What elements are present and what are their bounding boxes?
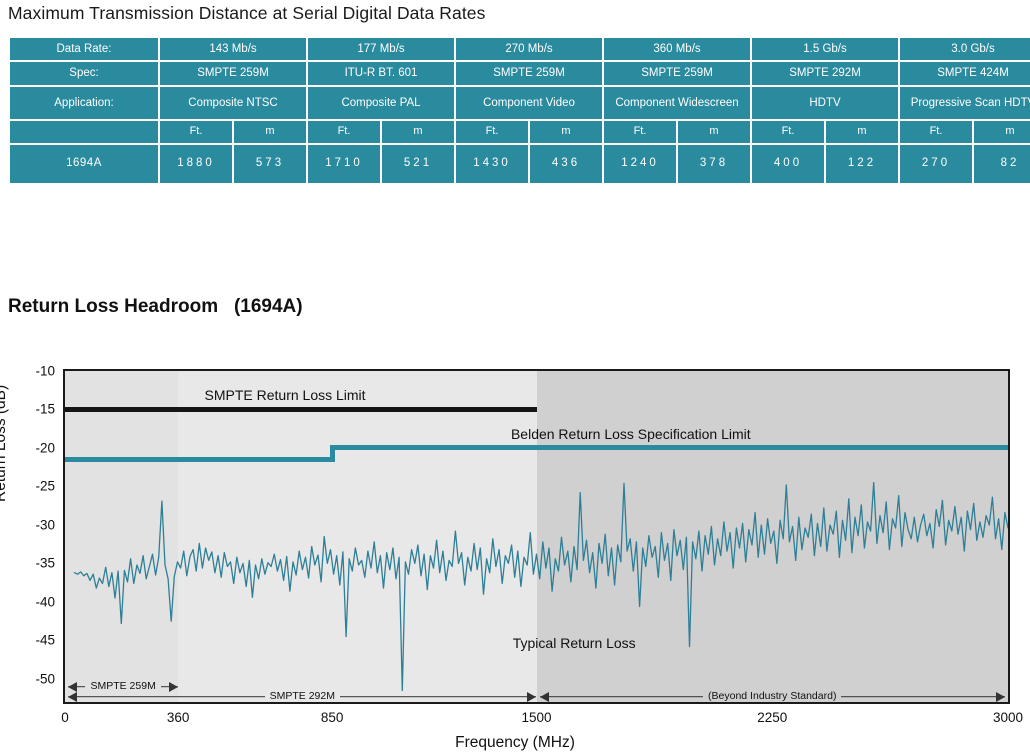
annotation-belden-limit: Belden Return Loss Specification Limit [511, 426, 751, 442]
unit-header-ft-5: Ft. [900, 121, 972, 143]
range-indicator-smpte-292m: SMPTE 292M [68, 690, 536, 703]
cell-ft-2: 1430 [456, 145, 528, 183]
cell-ft-5: 270 [900, 145, 972, 183]
cell-m-2: 436 [530, 145, 602, 183]
unit-header-m-4: m [826, 121, 898, 143]
x-tick-label: 1500 [521, 710, 551, 725]
cell-m-5: 82 [974, 145, 1030, 183]
cell-spec-4: SMPTE 292M [752, 62, 898, 84]
cell-spec-5: SMPTE 424M [900, 62, 1030, 84]
cell-ft-4: 400 [752, 145, 824, 183]
table-row-application: Application: Composite NTSC Composite PA… [10, 87, 1030, 119]
y-tick-label: -30 [0, 517, 55, 532]
unit-header-m-1: m [382, 121, 454, 143]
unit-header-ft-0: Ft. [160, 121, 232, 143]
cell-spec-0: SMPTE 259M [160, 62, 306, 84]
page-title: Maximum Transmission Distance at Serial … [8, 3, 486, 24]
typical-return-loss-trace [65, 371, 1008, 702]
cell-application-1: Composite PAL [308, 87, 454, 119]
cell-spec-3: SMPTE 259M [604, 62, 750, 84]
x-axis-title: Frequency (MHz) [0, 734, 1030, 752]
range-label-smpte-292m: SMPTE 292M [265, 691, 340, 702]
unit-header-m-5: m [974, 121, 1030, 143]
cell-data-rate-2: 270 Mb/s [456, 38, 602, 60]
row-label-spec: Spec: [10, 62, 158, 84]
units-row-spacer [10, 121, 158, 143]
cell-ft-0: 1880 [160, 145, 232, 183]
table-row-spec: Spec: SMPTE 259M ITU-R BT. 601 SMPTE 259… [10, 62, 1030, 84]
range-indicator-beyond-industry-standard: (Beyond Industry Standard) [540, 690, 1005, 703]
table-row-data-rate: Data Rate: 143 Mb/s 177 Mb/s 270 Mb/s 36… [10, 38, 1030, 60]
belden-limit-line-segment-high [332, 445, 1008, 450]
smpte-return-loss-limit-line [65, 407, 537, 412]
cell-application-2: Component Video [456, 87, 602, 119]
cell-spec-2: SMPTE 259M [456, 62, 602, 84]
cell-m-1: 521 [382, 145, 454, 183]
unit-header-ft-3: Ft. [604, 121, 676, 143]
y-tick-label: -45 [0, 633, 55, 648]
cell-data-rate-0: 143 Mb/s [160, 38, 306, 60]
chart-title: Return Loss Headroom (1694A) [8, 296, 303, 318]
range-label-smpte-259m: SMPTE 259M [85, 681, 160, 692]
x-tick-label: 2250 [757, 710, 787, 725]
transmission-distance-table: Data Rate: 143 Mb/s 177 Mb/s 270 Mb/s 36… [8, 36, 1022, 185]
belden-limit-line-segment-low [65, 457, 332, 462]
cell-ft-1: 1710 [308, 145, 380, 183]
cell-m-0: 573 [234, 145, 306, 183]
y-tick-label: -10 [0, 364, 55, 379]
x-tick-label: 3000 [993, 710, 1023, 725]
cell-ft-3: 1240 [604, 145, 676, 183]
y-tick-label: -40 [0, 594, 55, 609]
return-loss-chart: Return Loss (dB) -10-15-20-25-30-35-40-4… [0, 352, 1030, 754]
cell-application-4: HDTV [752, 87, 898, 119]
unit-header-m-3: m [678, 121, 750, 143]
unit-header-ft-4: Ft. [752, 121, 824, 143]
unit-header-ft-1: Ft. [308, 121, 380, 143]
cell-m-4: 122 [826, 145, 898, 183]
table-row-units: Ft. m Ft. m Ft. m Ft. m Ft. m Ft. m [10, 121, 1030, 143]
cell-spec-1: ITU-R BT. 601 [308, 62, 454, 84]
row-label-application: Application: [10, 87, 158, 119]
x-tick-label: 360 [167, 710, 190, 725]
chart-title-text: Return Loss Headroom [8, 296, 218, 317]
plot-area: SMPTE Return Loss Limit Belden Return Lo… [63, 369, 1010, 704]
annotation-smpte-limit: SMPTE Return Loss Limit [205, 387, 366, 403]
unit-header-m-0: m [234, 121, 306, 143]
row-label-data-rate: Data Rate: [10, 38, 158, 60]
y-tick-label: -20 [0, 440, 55, 455]
y-tick-label: -25 [0, 479, 55, 494]
cell-m-3: 378 [678, 145, 750, 183]
cell-application-5: Progressive Scan HDTV [900, 87, 1030, 119]
row-label-part-number: 1694A [10, 145, 158, 183]
cell-application-0: Composite NTSC [160, 87, 306, 119]
cell-data-rate-3: 360 Mb/s [604, 38, 750, 60]
x-tick-label: 850 [321, 710, 344, 725]
annotation-typical-return-loss: Typical Return Loss [513, 635, 636, 651]
unit-header-ft-2: Ft. [456, 121, 528, 143]
x-tick-label: 0 [61, 710, 69, 725]
y-tick-label: -15 [0, 402, 55, 417]
table-row-values: 1694A 1880 573 1710 521 1430 436 1240 37… [10, 145, 1030, 183]
cell-data-rate-5: 3.0 Gb/s [900, 38, 1030, 60]
cell-data-rate-1: 177 Mb/s [308, 38, 454, 60]
cell-application-3: Component Widescreen [604, 87, 750, 119]
y-tick-label: -50 [0, 671, 55, 686]
range-label-beyond-industry-standard: (Beyond Industry Standard) [703, 691, 841, 702]
unit-header-m-2: m [530, 121, 602, 143]
y-tick-label: -35 [0, 556, 55, 571]
cell-data-rate-4: 1.5 Gb/s [752, 38, 898, 60]
chart-title-part: (1694A) [234, 296, 303, 317]
